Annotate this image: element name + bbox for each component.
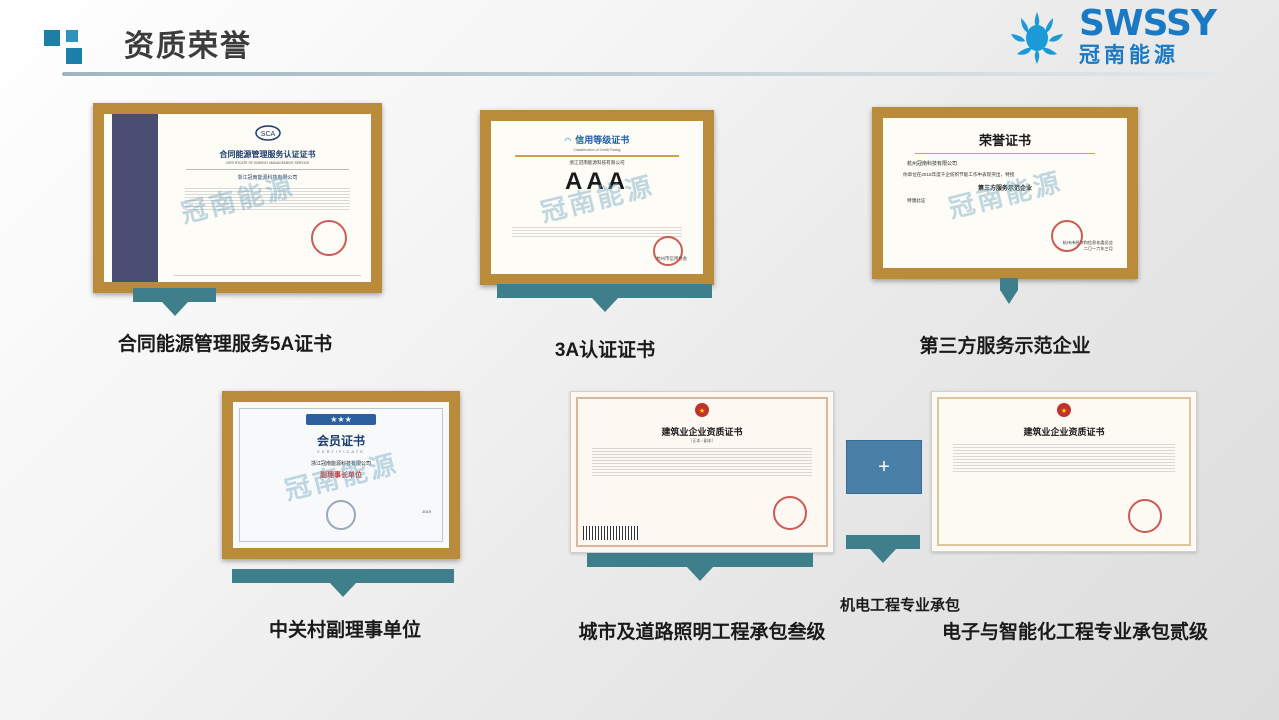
svg-text:★: ★ — [699, 407, 705, 415]
cert-seal — [773, 496, 807, 530]
certificate-card-electronic[interactable]: ★ 建筑业企业资质证书 — [931, 391, 1197, 552]
certificate-image: ★ 建筑业企业资质证书 （正本 / 副本） — [571, 392, 833, 552]
cert-role: 副理事长单位 — [239, 470, 443, 480]
cert-company: 杭州冠南科技有限公司 — [907, 160, 1121, 167]
expand-plus-button[interactable]: + — [846, 440, 922, 494]
certificate-image: SCA 合同能源管理服务认证证书 CERTIFICATE OF ENERGY M… — [104, 114, 371, 282]
caption-electronic: 电子与智能化工程专业承包贰级 — [940, 620, 1210, 646]
brand-name: SWSSY — [1079, 6, 1216, 42]
pointer-arrow-3a — [497, 284, 712, 312]
cert-subtitle: （正本 / 副本） — [577, 438, 827, 444]
pointer-arrow-road-lighting — [587, 553, 813, 581]
certificate-frame: SCA 合同能源管理服务认证证书 CERTIFICATE OF ENERGY M… — [93, 103, 382, 293]
cert-grade: AAA — [497, 168, 697, 196]
caption-5a: 合同能源管理服务5A证书 — [60, 332, 390, 358]
barcode — [583, 526, 639, 540]
certificate-frame: ★ 建筑业企业资质证书 （正本 / 副本） — [570, 391, 834, 553]
cert-company: 浙江冠南能源科技有限公司 — [239, 460, 443, 467]
cert-company: 浙江冠南能源科技有限公司 — [497, 160, 697, 166]
cert-title: 会员证书 — [239, 432, 443, 449]
cert-body: 你单位在2015年度千企纺织节能工作中表现突出，特授 — [903, 171, 1107, 179]
caption-mechanical-electrical: 机电工程专业承包 — [810, 593, 990, 619]
cert-subtitle: Classification of Credit Rating — [497, 148, 697, 152]
pointer-arrow-mechanical — [846, 535, 920, 563]
certificate-frame: ★ 建筑业企业资质证书 — [931, 391, 1197, 552]
decor-square-3 — [66, 48, 82, 64]
certificate-card-5a[interactable]: SCA 合同能源管理服务认证证书 CERTIFICATE OF ENERGY M… — [93, 103, 382, 293]
svg-text:★: ★ — [1061, 407, 1067, 415]
cert-title: 建筑业企业资质证书 — [938, 425, 1190, 438]
decor-square-1 — [44, 30, 60, 46]
header-divider — [62, 72, 1220, 76]
pointer-arrow-member — [232, 569, 454, 597]
certificate-image: ◠ 信用等级证书 Classification of Credit Rating… — [491, 121, 703, 274]
caption-third-party: 第三方服务示范企业 — [860, 334, 1150, 360]
cert-seal — [653, 236, 683, 266]
certificate-image: ★★★ 会员证书 CERTIFICATE 浙江冠南能源科技有限公司 副理事长单位… — [233, 402, 449, 548]
caption-3a: 3A认证证书 — [470, 338, 740, 364]
certificate-card-member[interactable]: ★★★ 会员证书 CERTIFICATE 浙江冠南能源科技有限公司 副理事长单位… — [222, 391, 460, 559]
certificate-frame: ◠ 信用等级证书 Classification of Credit Rating… — [480, 110, 714, 285]
cert-subtitle: CERTIFICATE — [239, 449, 443, 454]
cert-title: 建筑业企业资质证书 — [577, 425, 827, 438]
cert-date: 2019 — [422, 509, 431, 514]
cert-title: 荣誉证书 — [889, 130, 1121, 149]
certificate-card-3a[interactable]: ◠ 信用等级证书 Classification of Credit Rating… — [480, 110, 714, 285]
header-decor-squares — [44, 30, 102, 64]
cert-seal — [1128, 499, 1162, 533]
caption-member: 中关村副理事单位 — [200, 618, 490, 644]
cert-seal — [311, 220, 347, 256]
cert-award: 第三方服务示范企业 — [889, 183, 1121, 192]
certificate-image: ★ 建筑业企业资质证书 — [932, 392, 1196, 551]
cert-company: 浙江冠南能源科技有限公司 — [170, 174, 365, 181]
brand-name-cn: 冠南能源 — [1079, 44, 1216, 68]
cert-title: 信用等级证书 — [575, 135, 629, 145]
brand-logo: SWSSY 冠南能源 — [1007, 6, 1263, 68]
cert-title: 合同能源管理服务认证证书 — [170, 149, 365, 160]
page-title: 资质荣誉 — [124, 21, 252, 65]
certificate-card-road-lighting[interactable]: ★ 建筑业企业资质证书 （正本 / 副本） — [570, 391, 834, 553]
caption-road-lighting: 城市及道路照明工程承包叁级 — [570, 620, 834, 646]
certificate-frame: ★★★ 会员证书 CERTIFICATE 浙江冠南能源科技有限公司 副理事长单位… — [222, 391, 460, 559]
cert-subtitle: CERTIFICATE OF ENERGY MANAGEMENT SERVICE — [170, 161, 365, 165]
certificate-card-third-party[interactable]: 荣誉证书 杭州冠南科技有限公司 你单位在2015年度千企纺织节能工作中表现突出，… — [872, 107, 1138, 279]
pointer-arrow-5a — [133, 288, 216, 316]
cert-note: 特颁此证 — [907, 198, 1121, 204]
pointer-arrow-third-party — [1000, 278, 1018, 304]
decor-square-2 — [66, 30, 78, 42]
national-emblem-icon: ★ — [1056, 402, 1072, 418]
svg-text:SCA: SCA — [260, 131, 275, 138]
certificate-frame: 荣誉证书 杭州冠南科技有限公司 你单位在2015年度千企纺织节能工作中表现突出，… — [872, 107, 1138, 279]
cert-seal — [1051, 220, 1083, 252]
national-emblem-icon: ★ — [694, 402, 710, 418]
water-splash-icon — [1007, 8, 1071, 66]
certificate-image: 荣誉证书 杭州冠南科技有限公司 你单位在2015年度千企纺织节能工作中表现突出，… — [883, 118, 1127, 268]
